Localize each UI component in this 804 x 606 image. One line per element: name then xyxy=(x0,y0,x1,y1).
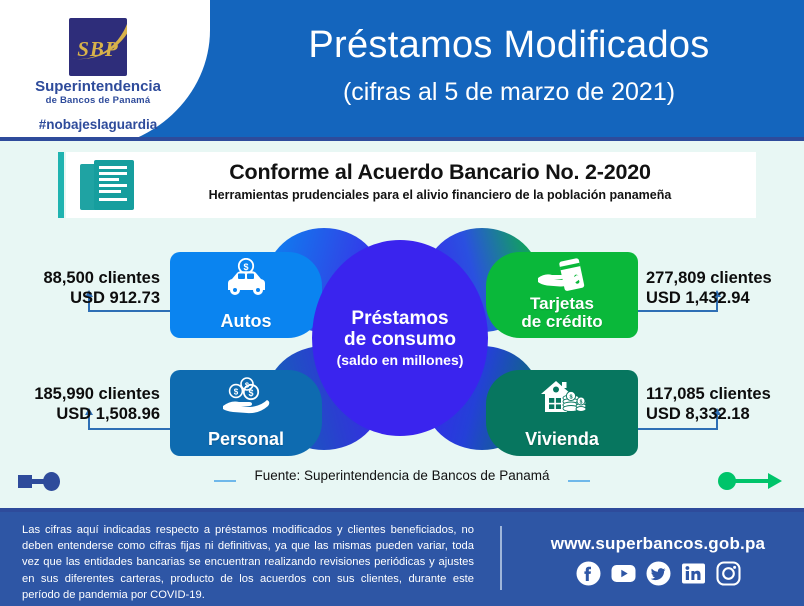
social-links xyxy=(530,560,786,586)
category-tarjetas-label: Tarjetas de crédito xyxy=(521,295,602,331)
category-autos-label: Autos xyxy=(221,312,272,331)
center-note: (saldo en millones) xyxy=(337,352,464,368)
value-autos-amount: USD 912.73 xyxy=(8,288,160,308)
category-personal-label: Personal xyxy=(208,430,284,449)
svg-text:$: $ xyxy=(243,262,248,272)
disclaimer-text: Las cifras aquí indicadas respecto a pré… xyxy=(22,522,474,603)
value-vivienda-clients: 117,085 clientes xyxy=(646,384,802,404)
value-autos-clients: 88,500 clientes xyxy=(8,268,160,288)
decorative-left-icon xyxy=(18,471,66,491)
loans-diagram: $ Autos $ $ $ xyxy=(0,226,804,458)
header-divider xyxy=(0,137,804,141)
source-dash-right xyxy=(568,480,590,482)
hand-with-coins-icon: $ $ $ xyxy=(170,376,322,416)
category-vivienda-label: Vivienda xyxy=(525,430,599,449)
car-with-coin-icon: $ xyxy=(170,258,322,298)
linkedin-icon[interactable] xyxy=(680,560,706,586)
sbp-logo: SBP Superintendencia de Bancos de Panamá… xyxy=(18,18,178,132)
value-autos: 88,500 clientes USD 912.73 xyxy=(8,268,160,308)
svg-text:$: $ xyxy=(580,399,583,405)
source-row: Fuente: Superintendencia de Bancos de Pa… xyxy=(0,458,804,504)
footer: Las cifras aquí indicadas respecto a pré… xyxy=(0,512,804,606)
campaign-hashtag: #nobajeslaguardia xyxy=(18,117,178,132)
infographic-root: SBP Superintendencia de Bancos de Panamá… xyxy=(0,0,804,606)
website-url[interactable]: www.superbancos.gob.pa xyxy=(530,534,786,554)
footer-vertical-divider xyxy=(500,526,502,590)
center-line-2: de consumo xyxy=(344,329,456,350)
center-line-1: Préstamos xyxy=(351,308,448,329)
agreement-title: Conforme al Acuerdo Bancario No. 2-2020 xyxy=(140,160,740,185)
logo-institution-subname: de Bancos de Panamá xyxy=(18,95,178,106)
youtube-icon[interactable] xyxy=(610,560,636,586)
documents-icon xyxy=(80,160,138,212)
value-personal: 185,990 clientes USD 1,508.96 xyxy=(2,384,160,424)
source-text: Fuente: Superintendencia de Bancos de Pa… xyxy=(202,468,602,483)
decorative-right-arrow-icon xyxy=(718,471,788,491)
category-vivienda[interactable]: $ $ Vivienda xyxy=(486,370,638,456)
center-node-consumer-loans: Préstamos de consumo (saldo en millones) xyxy=(312,240,488,436)
svg-text:$: $ xyxy=(234,388,239,397)
hand-with-credit-card-icon xyxy=(486,258,638,298)
agreement-subtitle: Herramientas prudenciales para el alivio… xyxy=(140,188,740,202)
svg-text:$: $ xyxy=(248,388,253,398)
category-autos[interactable]: $ Autos xyxy=(170,252,322,338)
category-personal[interactable]: $ $ $ Personal xyxy=(170,370,322,456)
twitter-icon[interactable] xyxy=(645,560,671,586)
house-with-coins-icon: $ $ xyxy=(486,376,638,416)
category-tarjetas-label-line2: de crédito xyxy=(521,312,602,331)
category-tarjetas-de-credito[interactable]: Tarjetas de crédito xyxy=(486,252,638,338)
value-tarjetas-clients: 277,809 clientes xyxy=(646,268,802,288)
facebook-icon[interactable] xyxy=(575,560,601,586)
value-tarjetas: 277,809 clientes USD 1,432.94 xyxy=(646,268,802,308)
page-subtitle-date: (cifras al 5 de marzo de 2021) xyxy=(214,78,804,107)
value-personal-clients: 185,990 clientes xyxy=(2,384,160,404)
value-vivienda: 117,085 clientes USD 8,332.18 xyxy=(646,384,802,424)
page-title: Préstamos Modificados xyxy=(214,24,804,67)
value-personal-amount: USD 1,508.96 xyxy=(2,404,160,424)
logo-institution-name: Superintendencia xyxy=(18,79,178,95)
instagram-icon[interactable] xyxy=(715,560,741,586)
sbp-logo-mark: SBP xyxy=(69,18,127,76)
band-accent-left xyxy=(58,152,64,218)
header: SBP Superintendencia de Bancos de Panamá… xyxy=(0,0,804,140)
value-tarjetas-amount: USD 1,432.94 xyxy=(646,288,802,308)
value-vivienda-amount: USD 8,332.18 xyxy=(646,404,802,424)
logo-initials: SBP xyxy=(69,37,127,62)
